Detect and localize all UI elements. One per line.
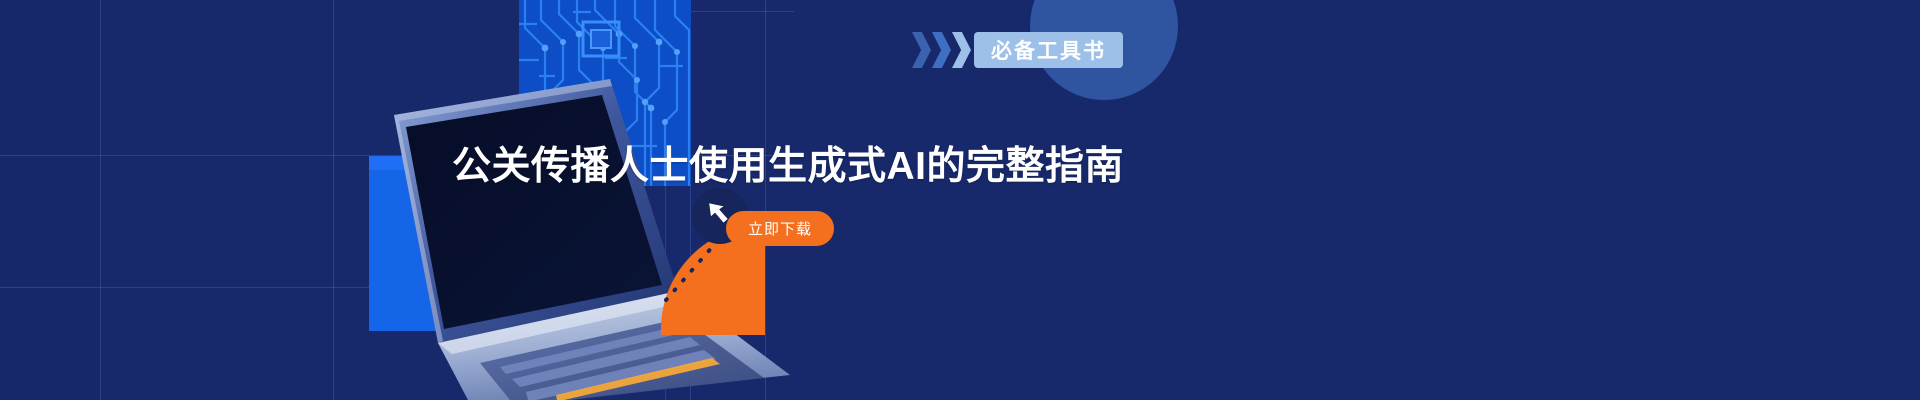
- grid-line-vertical: [333, 0, 334, 400]
- download-button-label: 立即下载: [748, 218, 812, 239]
- promo-banner: 立即下载 公关传播人士使用生成式AI的完整指南 必备工具书: [0, 0, 1920, 400]
- chevron-right-icon: [912, 32, 931, 68]
- page-title: 公关传播人士使用生成式AI的完整指南: [452, 146, 1124, 189]
- badge-label: 必备工具书: [991, 35, 1106, 65]
- grid-line-vertical: [100, 0, 101, 400]
- download-button[interactable]: 立即下载: [726, 211, 834, 246]
- chevron-right-icon: [952, 32, 971, 68]
- background-left-panel: [0, 0, 100, 400]
- grid-line-horizontal: [0, 287, 400, 288]
- chevron-right-icon: [932, 32, 951, 68]
- badge: 必备工具书: [912, 32, 1123, 68]
- badge-pill: 必备工具书: [974, 32, 1123, 68]
